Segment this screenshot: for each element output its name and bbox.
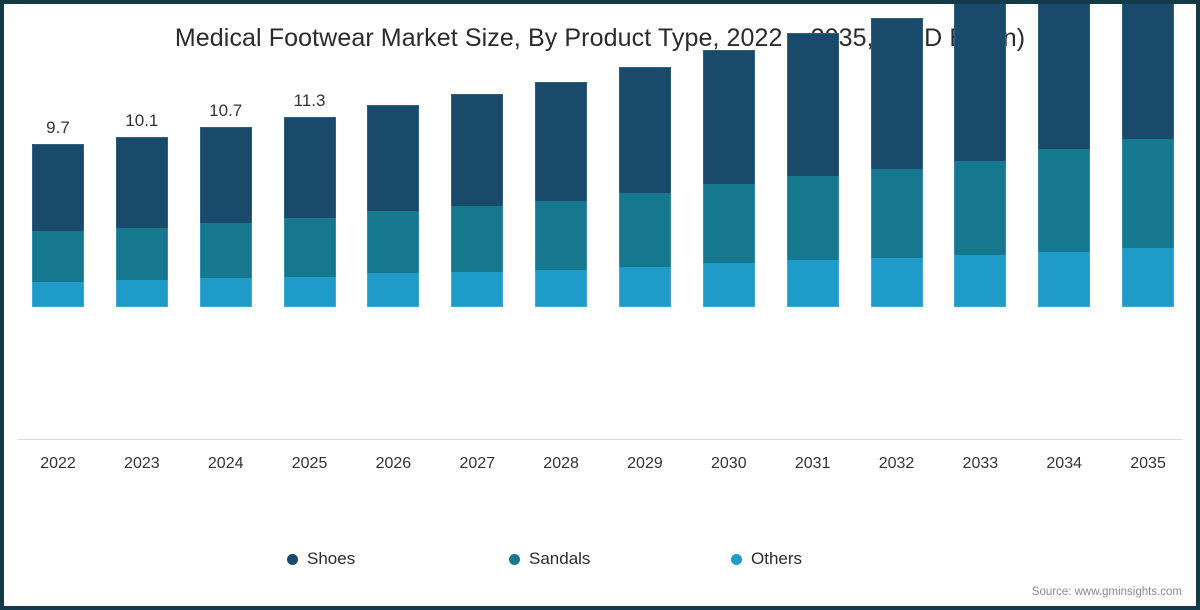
bar-segment-sandals-2025[interactable]: [284, 218, 336, 277]
x-tick-label-2027: 2027: [451, 455, 503, 473]
bar-segment-shoes-2028[interactable]: [535, 82, 587, 201]
bar-segment-others-2022[interactable]: [32, 282, 84, 307]
bar-2031[interactable]: [787, 33, 839, 307]
bar-value-label: 11.3: [294, 91, 326, 111]
bar-segment-sandals-2031[interactable]: [787, 176, 839, 260]
x-tick-label-2025: 2025: [284, 455, 336, 473]
x-tick-label-2032: 2032: [871, 455, 923, 473]
bar-2034[interactable]: [1038, 0, 1090, 307]
bar-segment-sandals-2023[interactable]: [116, 228, 168, 280]
bar-segment-others-2032[interactable]: [871, 258, 923, 307]
bar-segment-shoes-2027[interactable]: [451, 94, 503, 207]
bar-segment-sandals-2033[interactable]: [954, 161, 1006, 255]
bar-segment-sandals-2030[interactable]: [703, 184, 755, 263]
bar-segment-sandals-2029[interactable]: [619, 193, 671, 267]
bar-segment-sandals-2024[interactable]: [200, 223, 252, 278]
legend-item-sandals[interactable]: Sandals: [509, 549, 590, 569]
bar-segment-shoes-2023[interactable]: [116, 137, 168, 228]
bar-segment-shoes-2035[interactable]: [1122, 0, 1174, 139]
chart-legend: Shoes Sandals Others: [4, 549, 1196, 577]
x-tick-label-2031: 2031: [787, 455, 839, 473]
plot-area: 9.710.110.711.3: [4, 4, 1196, 474]
bar-segment-sandals-2028[interactable]: [535, 201, 587, 270]
x-tick-label-2029: 2029: [619, 455, 671, 473]
bar-segment-others-2024[interactable]: [200, 278, 252, 307]
x-tick-label-2028: 2028: [535, 455, 587, 473]
legend-color-swatch-sandals: [509, 554, 520, 565]
legend-item-others[interactable]: Others: [731, 549, 802, 569]
bar-2023[interactable]: 10.1: [116, 137, 168, 307]
bar-2035[interactable]: [1122, 0, 1174, 307]
bar-segment-others-2034[interactable]: [1038, 252, 1090, 307]
bar-segment-others-2026[interactable]: [367, 273, 419, 307]
bar-segment-others-2031[interactable]: [787, 260, 839, 307]
bar-value-label: 9.7: [46, 118, 70, 138]
bar-segment-sandals-2032[interactable]: [871, 169, 923, 258]
x-tick-label-2026: 2026: [367, 455, 419, 473]
bar-2022[interactable]: 9.7: [32, 144, 84, 307]
bar-segment-sandals-2027[interactable]: [451, 206, 503, 272]
bar-value-label: 10.7: [209, 101, 242, 121]
bar-segment-others-2035[interactable]: [1122, 248, 1174, 307]
bar-segment-others-2027[interactable]: [451, 272, 503, 307]
bar-2030[interactable]: [703, 50, 755, 307]
legend-color-swatch-others: [731, 554, 742, 565]
legend-label-others: Others: [751, 549, 802, 569]
chart-frame: Medical Footwear Market Size, By Product…: [0, 0, 1200, 610]
bar-segment-shoes-2022[interactable]: [32, 144, 84, 231]
x-tick-label-2034: 2034: [1038, 455, 1090, 473]
bar-segment-shoes-2034[interactable]: [1038, 0, 1090, 149]
bar-2026[interactable]: [367, 105, 419, 307]
bar-segment-others-2030[interactable]: [703, 263, 755, 307]
source-note: Source: www.gminsights.com: [1032, 586, 1182, 598]
bar-2025[interactable]: 11.3: [284, 117, 336, 307]
x-tick-label-2035: 2035: [1122, 455, 1174, 473]
bar-segment-shoes-2029[interactable]: [619, 67, 671, 193]
bar-segment-others-2029[interactable]: [619, 267, 671, 307]
x-tick-label-2023: 2023: [116, 455, 168, 473]
bar-2024[interactable]: 10.7: [200, 127, 252, 307]
bar-segment-shoes-2033[interactable]: [954, 0, 1006, 161]
bar-segment-others-2023[interactable]: [116, 280, 168, 307]
legend-label-sandals: Sandals: [529, 549, 590, 569]
bar-segment-others-2033[interactable]: [954, 255, 1006, 307]
legend-color-swatch-shoes: [287, 554, 298, 565]
x-axis-line: [18, 439, 1182, 440]
legend-item-shoes[interactable]: Shoes: [287, 549, 355, 569]
x-tick-label-2033: 2033: [954, 455, 1006, 473]
bar-segment-shoes-2030[interactable]: [703, 50, 755, 184]
legend-label-shoes: Shoes: [307, 549, 355, 569]
bar-segment-shoes-2031[interactable]: [787, 33, 839, 176]
bar-segment-shoes-2025[interactable]: [284, 117, 336, 218]
bar-2032[interactable]: [871, 18, 923, 307]
bar-value-label: 10.1: [125, 111, 158, 131]
bar-segment-others-2025[interactable]: [284, 277, 336, 307]
bar-segment-shoes-2024[interactable]: [200, 127, 252, 223]
x-tick-label-2022: 2022: [32, 455, 84, 473]
x-tick-label-2030: 2030: [703, 455, 755, 473]
bar-segment-sandals-2022[interactable]: [32, 231, 84, 281]
bar-segment-sandals-2034[interactable]: [1038, 149, 1090, 251]
x-tick-label-2024: 2024: [200, 455, 252, 473]
bar-2033[interactable]: [954, 0, 1006, 307]
bar-segment-sandals-2035[interactable]: [1122, 139, 1174, 248]
bar-2029[interactable]: [619, 67, 671, 307]
x-axis-tick-labels: 2022202320242025202620272028202920302031…: [4, 455, 1196, 481]
bar-segment-sandals-2026[interactable]: [367, 211, 419, 273]
bar-2028[interactable]: [535, 82, 587, 307]
bar-segment-shoes-2026[interactable]: [367, 105, 419, 211]
bar-segment-others-2028[interactable]: [535, 270, 587, 307]
bar-2027[interactable]: [451, 94, 503, 307]
chart-canvas: Medical Footwear Market Size, By Product…: [4, 4, 1196, 606]
bar-segment-shoes-2032[interactable]: [871, 18, 923, 169]
